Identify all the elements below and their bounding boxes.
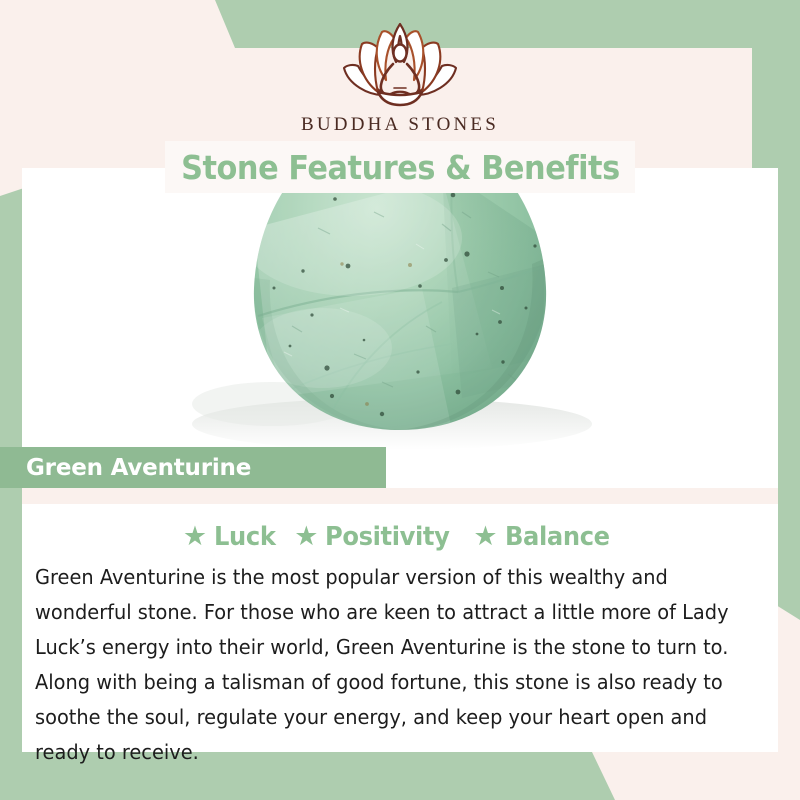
brand-wordmark: BUDDHA STONES bbox=[301, 114, 499, 136]
divider-strip bbox=[22, 488, 778, 504]
title-banner: Stone Features & Benefits bbox=[165, 141, 635, 193]
stone-photo bbox=[22, 168, 778, 450]
benefit-item: ★ Balance bbox=[473, 522, 617, 552]
stone-name-label: Green Aventurine bbox=[26, 455, 251, 481]
stone-description: Green Aventurine is the most popular ver… bbox=[35, 560, 734, 770]
benefit-label: Balance bbox=[505, 522, 610, 552]
benefit-label: Luck bbox=[214, 522, 276, 552]
benefits-row: ★ Luck ★ Positivity ★ Balance bbox=[22, 515, 778, 559]
lotus-meditation-icon bbox=[334, 22, 466, 108]
page-title: Stone Features & Benefits bbox=[181, 148, 620, 187]
benefit-item: ★ Positivity bbox=[294, 522, 459, 552]
infographic-page: BUDDHA STONES Stone Features & Benefits bbox=[0, 0, 800, 800]
star-icon: ★ bbox=[473, 523, 497, 550]
stone-name-banner: Green Aventurine bbox=[0, 447, 386, 488]
star-icon: ★ bbox=[294, 523, 318, 550]
star-icon: ★ bbox=[183, 523, 207, 550]
benefit-item: ★ Luck bbox=[183, 522, 280, 552]
benefit-label: Positivity bbox=[325, 522, 450, 552]
brand-header: BUDDHA STONES bbox=[0, 0, 800, 148]
